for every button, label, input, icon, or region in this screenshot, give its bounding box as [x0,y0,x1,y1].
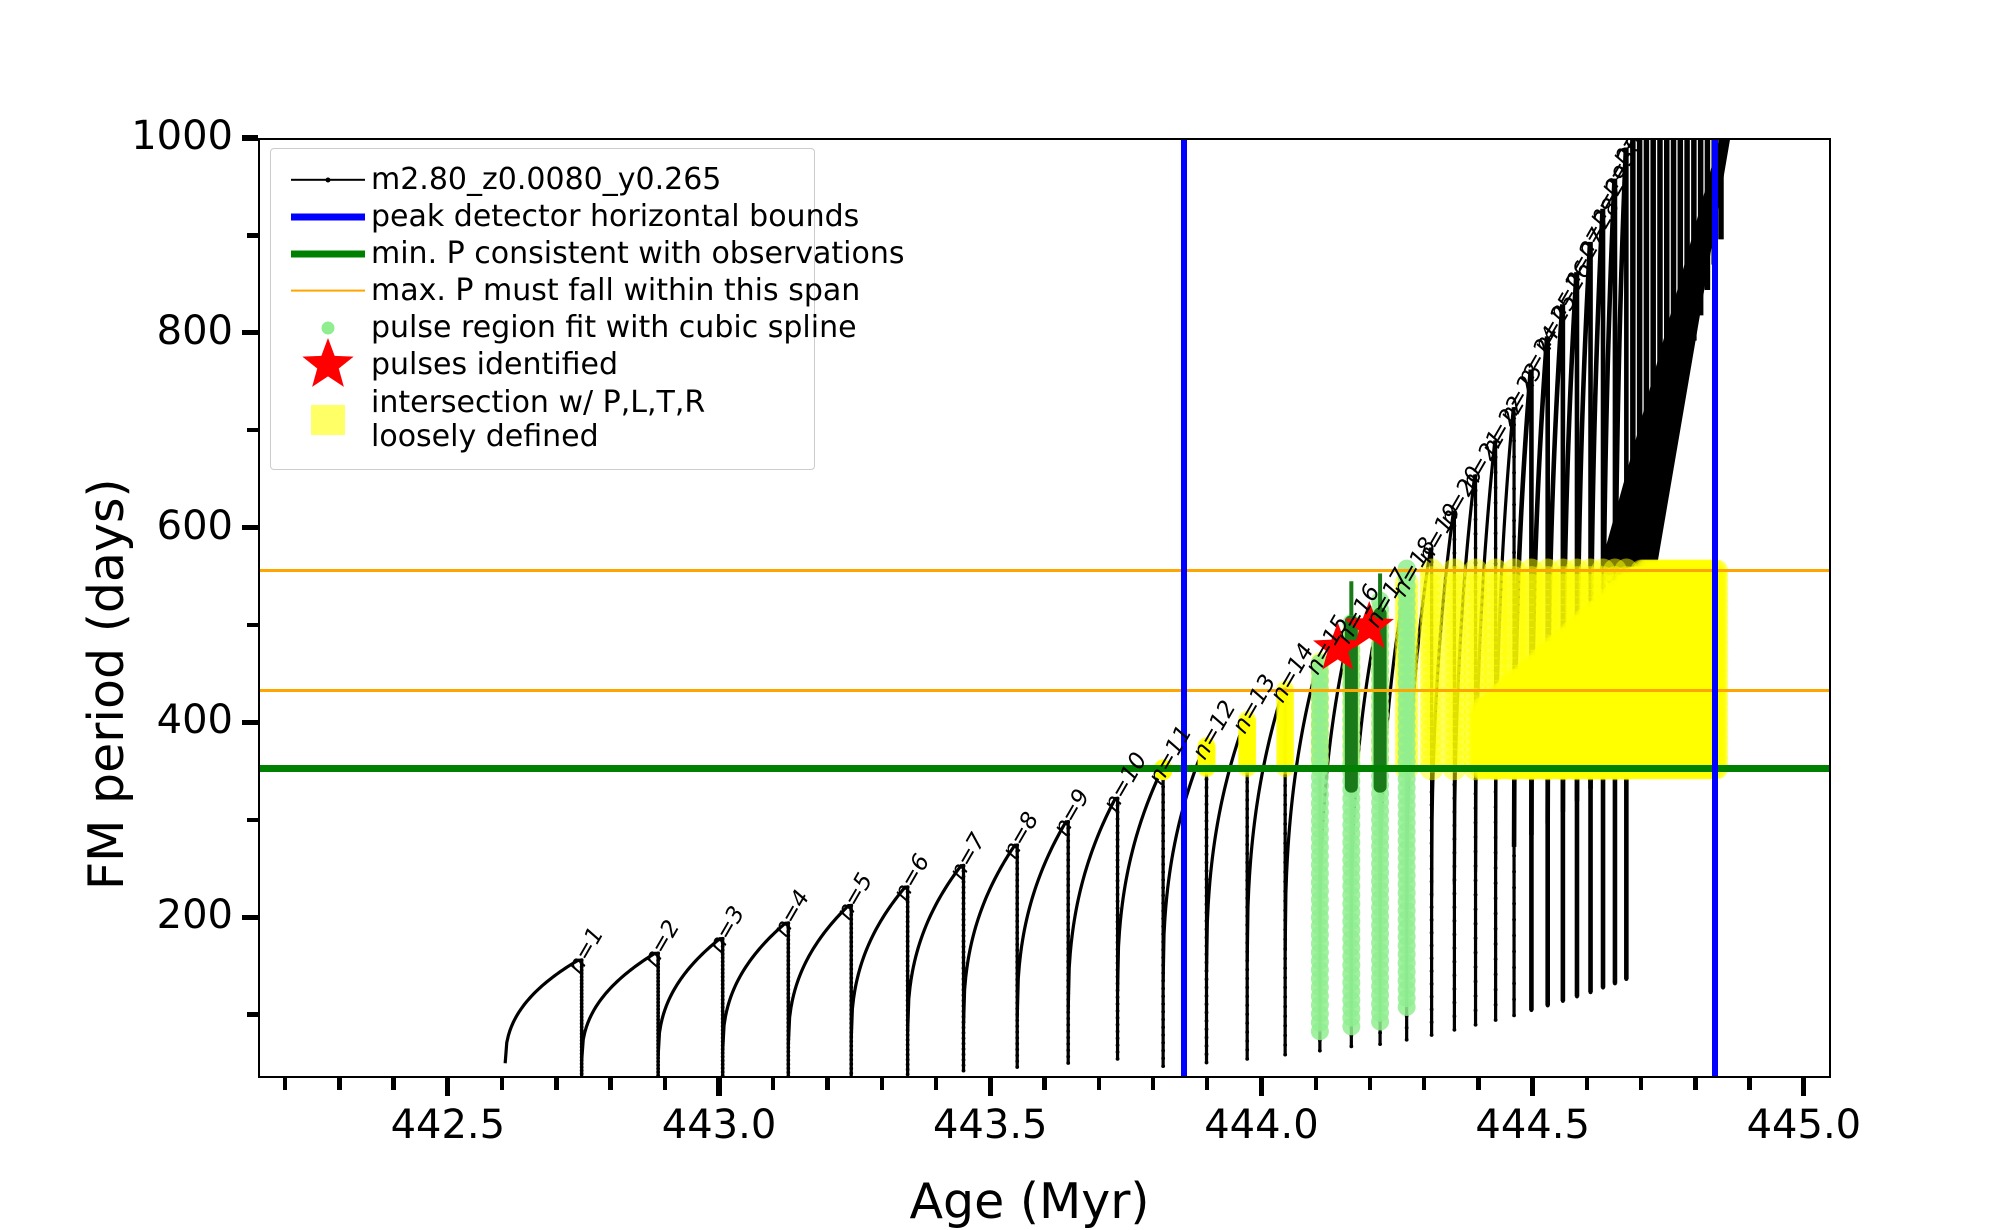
y-tick-label: 200 [43,892,233,938]
y-tick-major [242,915,258,920]
legend-item[interactable]: pulse region fit with cubic spline [285,309,798,346]
legend-item[interactable]: m2.80_z0.0080_y0.265 [285,161,798,198]
legend-label: pulses identified [371,350,618,380]
legend-point-marker [326,177,331,182]
legend-label: min. P consistent with observations [371,239,905,269]
y-tick-label: 800 [43,308,233,354]
x-tick-minor [934,1078,938,1090]
legend-key-star [285,346,371,383]
y-tick-major [242,135,258,140]
x-tick-minor [1314,1078,1318,1090]
y-tick-major [242,330,258,335]
legend-line [291,213,365,220]
legend-key-square [285,402,371,439]
x-tick-minor [1422,1078,1426,1090]
legend-line [291,250,365,257]
y-tick-label: 400 [43,697,233,743]
x-tick-minor [1151,1078,1155,1090]
x-tick-minor [880,1078,884,1090]
legend-label: max. P must fall within this span [371,276,860,306]
y-tick-minor [247,818,258,822]
vertical-bound-line [1181,140,1187,1076]
y-tick-major [242,525,258,530]
x-tick-minor [337,1078,341,1090]
x-tick-major [1259,1078,1264,1096]
legend-item[interactable]: max. P must fall within this span [285,272,798,309]
x-tick-major [1530,1078,1535,1096]
legend-line [291,289,365,292]
legend-label: m2.80_z0.0080_y0.265 [371,165,721,195]
legend-label: pulse region fit with cubic spline [371,313,857,343]
legend-key-line-thin [285,272,371,309]
legend-key-line-thick [285,198,371,235]
legend-square-marker [311,405,345,435]
legend-item[interactable]: intersection w/ P,L,T,Rloosely defined [285,383,798,457]
x-tick-minor [1368,1078,1372,1090]
x-tick-minor [1747,1078,1751,1090]
x-tick-label: 444.5 [1423,1102,1643,1148]
legend-key-line-marker [285,161,371,198]
vertical-bound-line [1712,140,1718,1076]
x-tick-minor [391,1078,395,1090]
x-tick-major [1801,1078,1806,1096]
x-tick-label: 442.5 [338,1102,558,1148]
y-tick-minor [247,428,258,432]
x-tick-minor [1042,1078,1046,1090]
x-axis-title: Age (Myr) [910,1173,1150,1230]
chart-legend: m2.80_z0.0080_y0.265peak detector horizo… [270,148,815,470]
x-tick-minor [1639,1078,1643,1090]
x-tick-minor [1476,1078,1480,1090]
x-tick-major [716,1078,721,1096]
legend-label: peak detector horizontal bounds [371,202,859,232]
y-tick-minor [247,623,258,627]
x-tick-minor [283,1078,287,1090]
x-tick-minor [663,1078,667,1090]
figure-canvas: FM period (days) Age (Myr) n=1n=2n=3n=4n… [0,0,2000,1200]
x-tick-minor [771,1078,775,1090]
x-tick-label: 443.0 [609,1102,829,1148]
y-tick-label: 600 [43,503,233,549]
x-tick-major [988,1078,993,1096]
x-tick-minor [1205,1078,1209,1090]
x-tick-minor [825,1078,829,1090]
x-tick-minor [608,1078,612,1090]
legend-star-marker [297,337,359,393]
x-tick-minor [1693,1078,1697,1090]
x-tick-minor [554,1078,558,1090]
y-tick-minor [247,233,258,237]
legend-key-line-thick [285,235,371,272]
y-tick-minor [247,1012,258,1016]
legend-dot-marker [322,321,335,334]
x-tick-minor [1097,1078,1101,1090]
y-tick-label: 1000 [43,113,233,159]
y-tick-major [242,720,258,725]
legend-item[interactable]: peak detector horizontal bounds [285,198,798,235]
legend-label: intersection w/ P,L,T,Rloosely defined [371,386,705,453]
x-tick-minor [500,1078,504,1090]
legend-item[interactable]: pulses identified [285,346,798,383]
x-tick-major [445,1078,450,1096]
legend-item[interactable]: min. P consistent with observations [285,235,798,272]
x-tick-label: 443.5 [880,1102,1100,1148]
x-tick-label: 444.0 [1151,1102,1371,1148]
x-tick-minor [1585,1078,1589,1090]
x-tick-label: 445.0 [1694,1102,1914,1148]
